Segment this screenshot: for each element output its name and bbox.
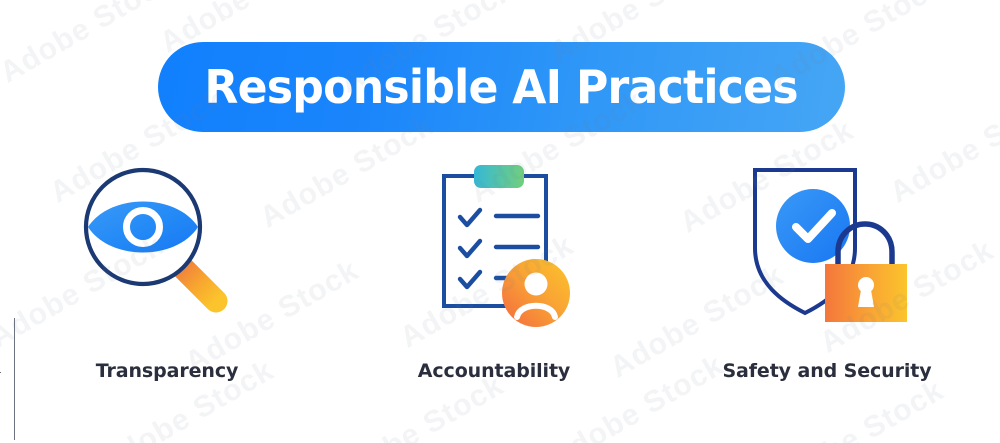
practice-label-accountability: Accountability bbox=[334, 360, 662, 382]
watermark-tile: Adobe Stock bbox=[0, 0, 180, 90]
practice-label-transparency: Transparency bbox=[0, 360, 364, 382]
shield-check-lock-icon bbox=[654, 160, 1000, 340]
practice-item-accountability[interactable]: Accountability bbox=[334, 160, 654, 420]
title-banner: Responsible AI Practices bbox=[158, 42, 845, 132]
clipboard-checklist-person-icon bbox=[334, 160, 654, 340]
poster-canvas: Responsible AI Practices bbox=[0, 0, 1000, 443]
magnifier-handle-shape bbox=[181, 266, 216, 301]
practice-item-safety-and-security[interactable]: Safety and Security bbox=[654, 160, 1000, 420]
magnifier-eye-icon bbox=[0, 160, 334, 340]
practice-label-safety-and-security: Safety and Security bbox=[654, 360, 1000, 382]
person-badge bbox=[502, 259, 570, 327]
practices-row: Transparency bbox=[0, 160, 1000, 420]
practice-item-transparency[interactable]: Transparency bbox=[0, 160, 334, 420]
clipboard-clip bbox=[474, 165, 524, 188]
page-title: Responsible AI Practices bbox=[205, 64, 798, 110]
